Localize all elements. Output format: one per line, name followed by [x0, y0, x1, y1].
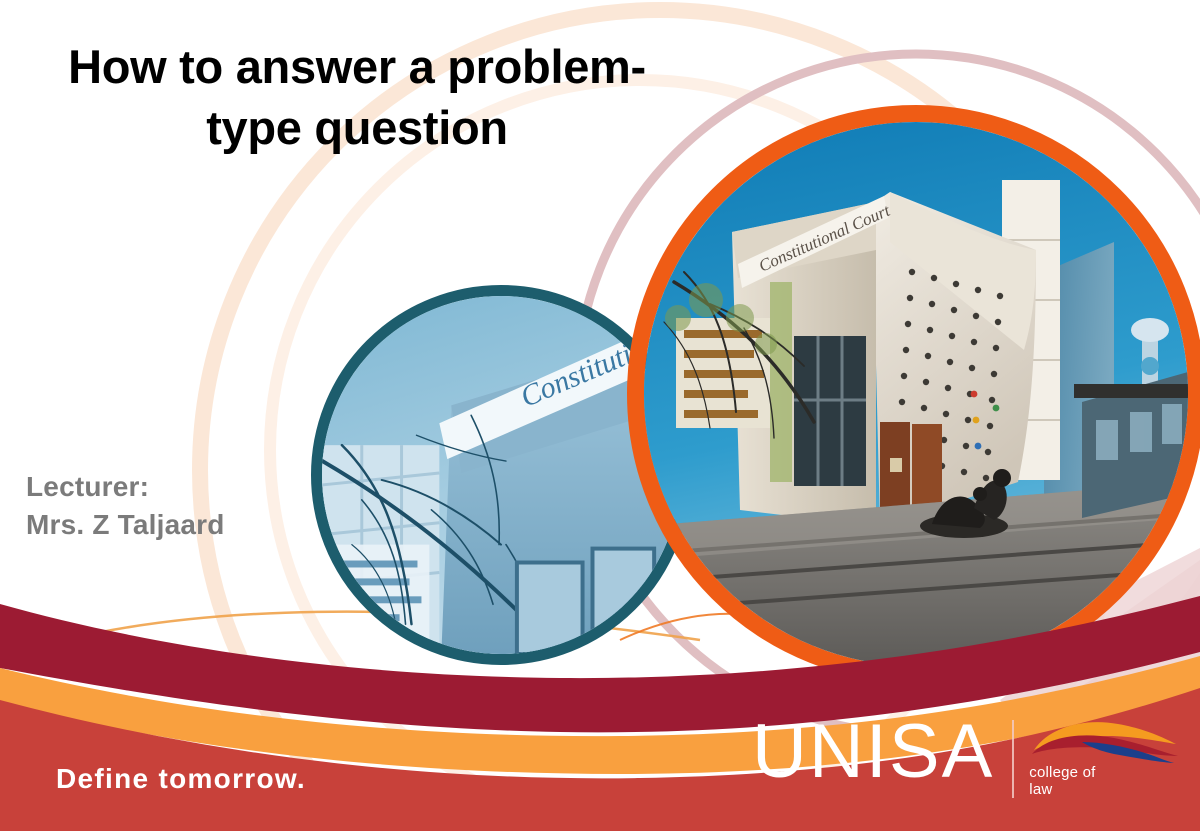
tagline: Define tomorrow. — [56, 763, 306, 795]
presentation-slide: How to answer a problem- type question L… — [0, 0, 1200, 831]
canopy — [1074, 384, 1188, 398]
slide-title: How to answer a problem- type question — [62, 36, 652, 158]
lecturer-block: Lecturer: Mrs. Z Taljaard — [26, 468, 225, 544]
unisa-swoosh-icon — [1028, 716, 1178, 764]
entrance-glazing — [794, 336, 866, 486]
page-title: How to answer a problem- type question — [62, 36, 652, 158]
unisa-logo: UNISA college of law — [752, 716, 1178, 806]
lecturer-label: Lecturer: — [26, 468, 225, 506]
logo-divider — [1012, 720, 1014, 798]
logo-right-group: college of law — [1028, 716, 1178, 802]
college-of-law-label: college of law — [1029, 764, 1095, 798]
lecturer-name: Mrs. Z Taljaard — [26, 506, 225, 544]
unisa-wordmark: UNISA — [752, 716, 994, 788]
